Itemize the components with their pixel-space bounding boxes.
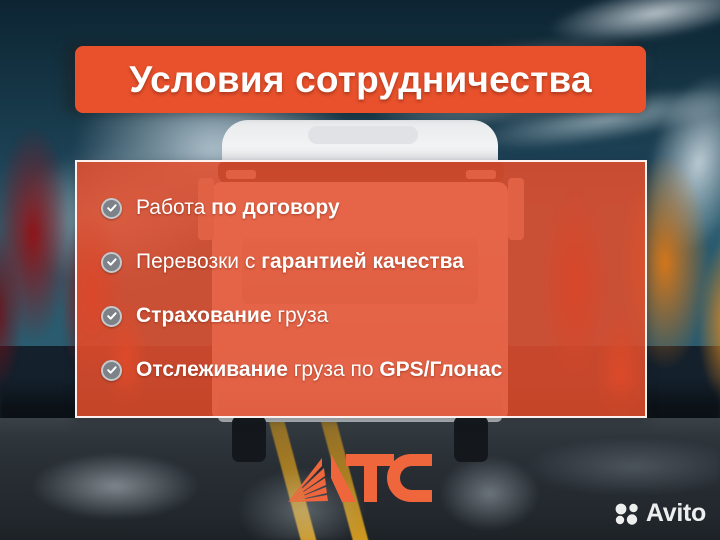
- page-title: Условия сотрудничества: [129, 59, 591, 101]
- feature-item: Отслеживание груза по GPS/Глонас: [101, 343, 645, 397]
- truck-wheel: [454, 416, 488, 462]
- check-circle-icon: [101, 306, 122, 327]
- feature-label: Перевозки с гарантией качества: [136, 250, 464, 273]
- truck-roof-vent: [308, 126, 418, 144]
- feature-item: Работа по договору: [101, 181, 645, 235]
- feature-label: Страхование груза: [136, 304, 328, 327]
- truck-wheel: [232, 416, 266, 462]
- feature-item: Страхование груза: [101, 289, 645, 343]
- poster: Условия сотрудничества Работа по договор…: [0, 0, 720, 540]
- features-panel: Работа по договоруПеревозки с гарантией …: [75, 160, 647, 418]
- avito-label: Avito: [646, 499, 706, 528]
- check-circle-icon: [101, 198, 122, 219]
- feature-label: Отслеживание груза по GPS/Глонас: [136, 358, 502, 381]
- title-banner: Условия сотрудничества: [75, 46, 646, 113]
- check-circle-icon: [101, 360, 122, 381]
- avito-dots-icon: [614, 503, 640, 525]
- avito-watermark: Avito: [614, 499, 706, 528]
- check-circle-icon: [101, 252, 122, 273]
- feature-label: Работа по договору: [136, 196, 340, 219]
- atc-logo: [284, 448, 434, 504]
- feature-item: Перевозки с гарантией качества: [101, 235, 645, 289]
